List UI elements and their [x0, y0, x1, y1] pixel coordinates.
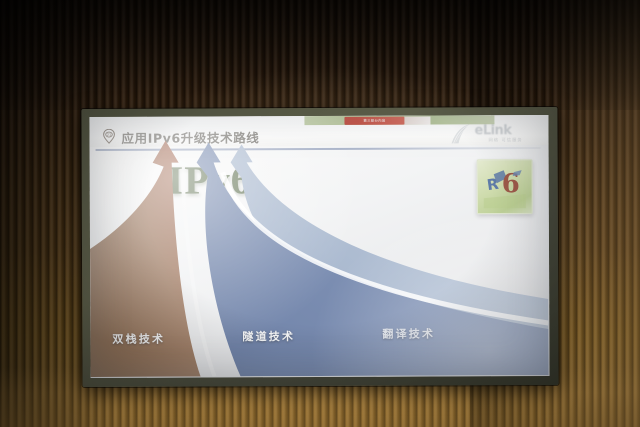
- label-dual-stack: 双栈技术: [112, 331, 165, 347]
- display-bezel-inner: 第三部分内容 21 应用IPv6升级技术路线: [89, 115, 549, 378]
- display-frame: 第三部分内容 21 应用IPv6升级技术路线: [81, 107, 558, 387]
- presentation-slide: 第三部分内容 21 应用IPv6升级技术路线: [89, 115, 549, 378]
- label-tunneling: 隧道技术: [242, 328, 295, 344]
- label-translation: 翻译技术: [382, 325, 435, 341]
- photo-scene: 第三部分内容 21 应用IPv6升级技术路线: [0, 0, 640, 427]
- wall-shadow-top: [0, 0, 640, 110]
